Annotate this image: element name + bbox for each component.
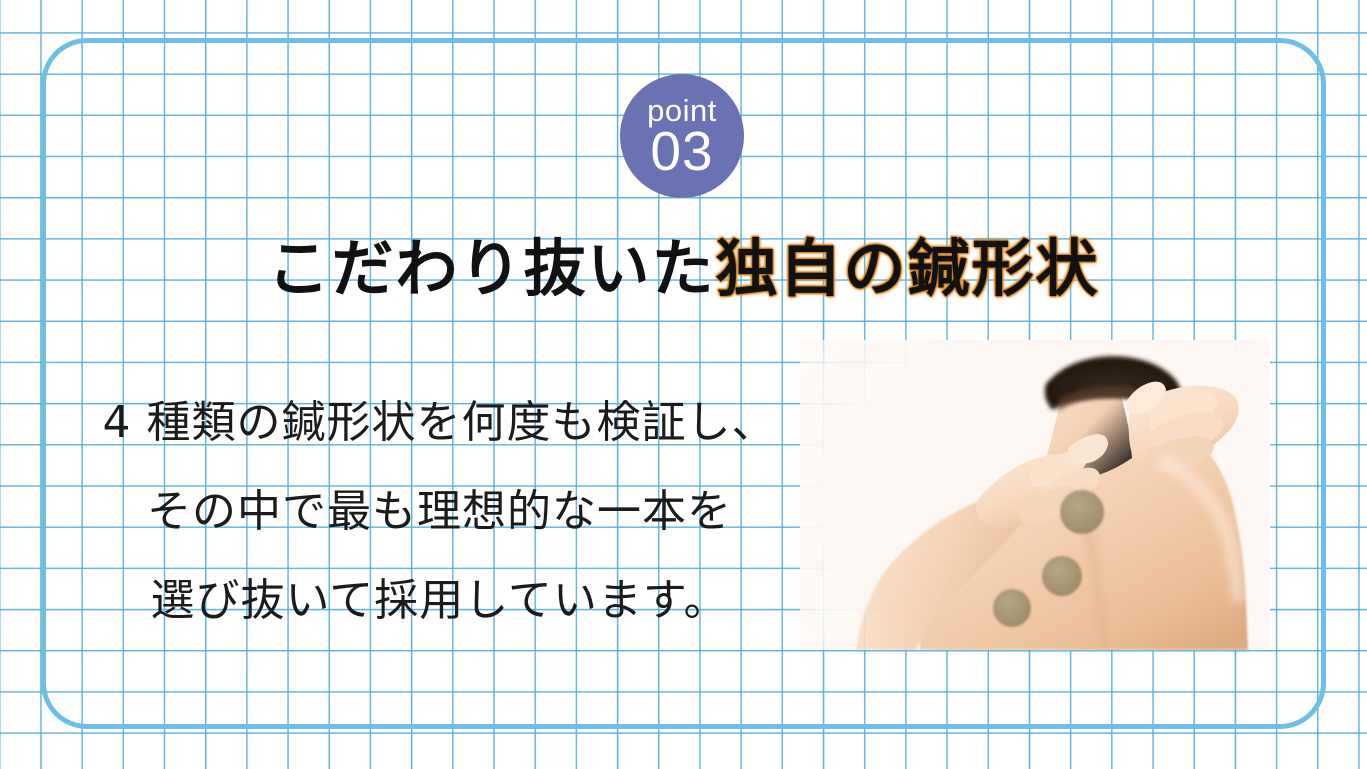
body-copy-line-3: 選び抜いて採用しています。	[52, 556, 827, 645]
page-title-highlight: 独自の鍼形状	[716, 232, 1100, 305]
patch-2	[1042, 556, 1082, 596]
patch-1	[1060, 490, 1104, 534]
neck-shoulder-acupuncture-patch-photo	[800, 340, 1270, 650]
photo-illustration	[800, 340, 1270, 650]
point-badge-number: 03	[650, 124, 713, 179]
body-copy: 4 種類の鍼形状を何度も検証し、 その中で最も理想的な一本を 選び抜いて採用して…	[52, 378, 827, 645]
page-title: こだわり抜いた独自の鍼形状	[0, 218, 1367, 308]
patch-3	[993, 589, 1031, 627]
body-copy-line-1: 4 種類の鍼形状を何度も検証し、	[52, 378, 827, 467]
slide-canvas: point 03 こだわり抜いた独自の鍼形状 4 種類の鍼形状を何度も検証し、 …	[0, 0, 1367, 769]
page-title-plain: こだわり抜いた	[267, 232, 715, 305]
point-badge: point 03	[620, 74, 744, 198]
body-copy-line-2: その中で最も理想的な一本を	[52, 467, 827, 556]
